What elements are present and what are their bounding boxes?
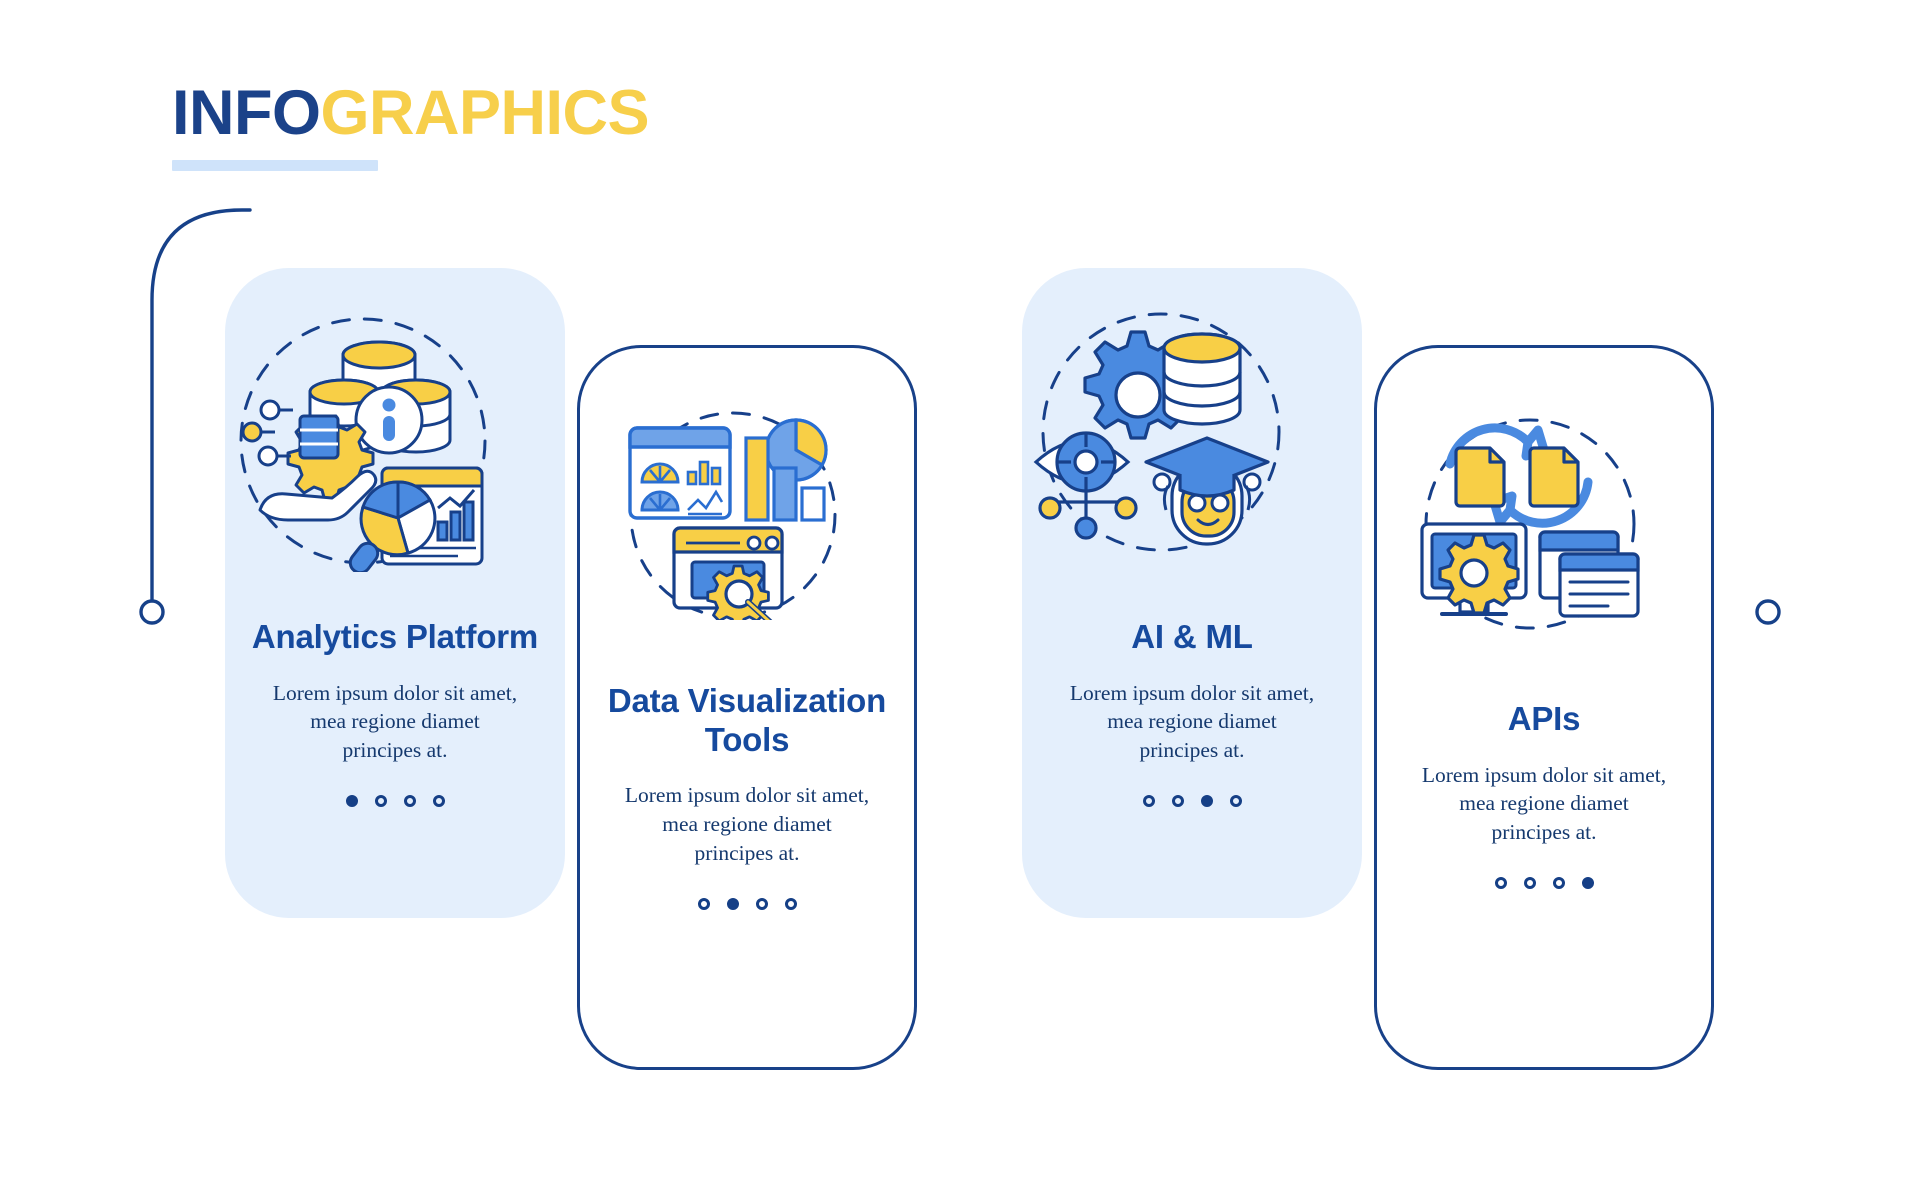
card-apis-content: APIs Lorem ipsum dolor sit amet, mea reg… <box>1374 700 1714 889</box>
page-title: INFOGRAPHICS <box>172 82 649 145</box>
connector-endpoint-left <box>141 601 163 623</box>
data-visualization-icon <box>608 410 858 620</box>
progress-dot[interactable] <box>404 795 416 807</box>
card-body: Lorem ipsum dolor sit amet, mea regione … <box>1419 761 1669 847</box>
title-underline-rule <box>172 160 378 171</box>
progress-dots[interactable] <box>346 795 445 807</box>
progress-dot[interactable] <box>1553 877 1565 889</box>
progress-dot[interactable] <box>1201 795 1213 807</box>
progress-dot[interactable] <box>346 795 358 807</box>
card-title: Analytics Platform <box>252 618 538 657</box>
card-ai-ml-content: AI & ML Lorem ipsum dolor sit amet, mea … <box>1022 618 1362 807</box>
card-body: Lorem ipsum dolor sit amet, mea regione … <box>270 679 520 765</box>
progress-dot[interactable] <box>698 898 710 910</box>
infographic-canvas: INFOGRAPHICS <box>0 0 1920 1196</box>
progress-dots[interactable] <box>1495 877 1594 889</box>
card-title: APIs <box>1508 700 1581 739</box>
progress-dot[interactable] <box>1143 795 1155 807</box>
card-analytics-platform-content: Analytics Platform Lorem ipsum dolor sit… <box>225 618 565 807</box>
progress-dot[interactable] <box>785 898 797 910</box>
progress-dot[interactable] <box>1172 795 1184 807</box>
progress-dot[interactable] <box>433 795 445 807</box>
page-title-primary: INFO <box>172 78 321 148</box>
connector-endpoint-right <box>1757 601 1779 623</box>
card-title: AI & ML <box>1131 618 1252 657</box>
progress-dot[interactable] <box>727 898 739 910</box>
card-title: Data Visualization Tools <box>577 682 917 759</box>
apis-icon <box>1412 412 1662 642</box>
progress-dot[interactable] <box>1495 877 1507 889</box>
progress-dots[interactable] <box>1143 795 1242 807</box>
progress-dot[interactable] <box>1524 877 1536 889</box>
card-body: Lorem ipsum dolor sit amet, mea regione … <box>622 781 872 867</box>
progress-dot[interactable] <box>1230 795 1242 807</box>
card-body: Lorem ipsum dolor sit amet, mea regione … <box>1067 679 1317 765</box>
ai-ml-icon <box>1030 310 1292 560</box>
progress-dot[interactable] <box>756 898 768 910</box>
progress-dot[interactable] <box>1582 877 1594 889</box>
analytics-platform-icon <box>232 310 494 572</box>
progress-dot[interactable] <box>375 795 387 807</box>
page-title-accent: GRAPHICS <box>321 78 650 148</box>
progress-dots[interactable] <box>698 898 797 910</box>
card-data-visualization-content: Data Visualization Tools Lorem ipsum dol… <box>577 682 917 910</box>
